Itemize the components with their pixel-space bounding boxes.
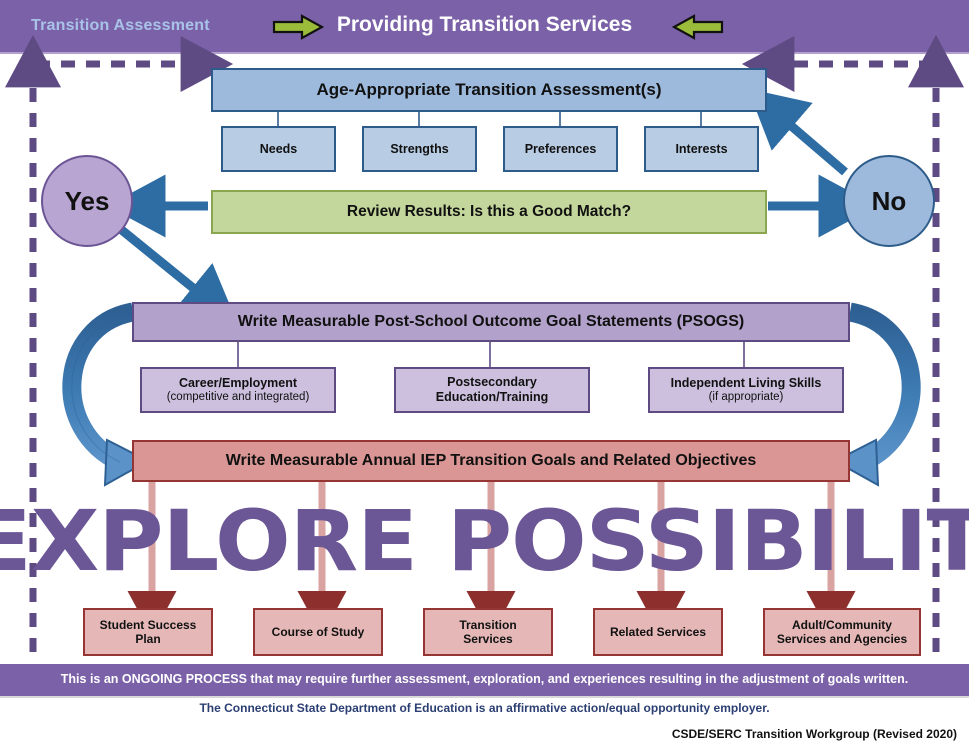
- outcome-label: Adult/Community Services and Agencies: [771, 618, 913, 646]
- assessment-item-preferences[interactable]: Preferences: [503, 126, 618, 172]
- outcome-line2: Services: [463, 632, 512, 646]
- arrow-no-to-assessment-icon: [782, 118, 845, 172]
- psogs-item-text: Postsecondary Education/Training: [430, 375, 555, 405]
- assessment-title: Age-Appropriate Transition Assessment(s): [310, 80, 667, 100]
- outcome-related-services[interactable]: Related Services: [593, 608, 723, 656]
- outcome-label: Transition Services: [453, 618, 522, 646]
- psogs-item-independent-living[interactable]: Independent Living Skills (if appropriat…: [648, 367, 844, 413]
- assessment-item-label: Needs: [254, 142, 304, 157]
- outcome-line2: Plan: [135, 632, 160, 646]
- decision-no-circle[interactable]: No: [843, 155, 935, 247]
- psogs-item-postsecondary[interactable]: Postsecondary Education/Training: [394, 367, 590, 413]
- outcome-student-success-plan[interactable]: Student Success Plan: [83, 608, 213, 656]
- psogs-item-line1: Postsecondary: [436, 375, 549, 390]
- outcome-adult-community-services[interactable]: Adult/Community Services and Agencies: [763, 608, 921, 656]
- page-header: Transition Assessment Providing Transiti…: [0, 0, 969, 53]
- ongoing-process-text: This is an ONGOING PROCESS that may requ…: [0, 672, 969, 686]
- iep-goals-box[interactable]: Write Measurable Annual IEP Transition G…: [132, 440, 850, 482]
- assessment-stems: [278, 110, 701, 126]
- psogs-item-line1: Independent Living Skills: [671, 376, 822, 391]
- outcome-line1: Transition: [459, 618, 516, 632]
- psogs-item-text: Career/Employment (competitive and integ…: [161, 376, 316, 404]
- assessment-item-needs[interactable]: Needs: [221, 126, 336, 172]
- assessment-item-label: Preferences: [519, 142, 603, 157]
- credit-line: CSDE/SERC Transition Workgroup (Revised …: [672, 727, 957, 741]
- psogs-box[interactable]: Write Measurable Post-School Outcome Goa…: [132, 302, 850, 342]
- psogs-item-line2: Education/Training: [436, 390, 549, 405]
- green-arrow-left-icon: [672, 14, 724, 40]
- outcome-label: Student Success Plan: [94, 618, 203, 646]
- psogs-item-line2: (if appropriate): [671, 391, 822, 405]
- psogs-item-line2: (competitive and integrated): [167, 391, 310, 405]
- psogs-title: Write Measurable Post-School Outcome Goa…: [232, 313, 750, 332]
- iep-goals-title: Write Measurable Annual IEP Transition G…: [220, 452, 763, 471]
- outcome-label: Related Services: [604, 625, 712, 639]
- outcome-line1: Student Success: [100, 618, 197, 632]
- decision-yes-circle[interactable]: Yes: [41, 155, 133, 247]
- review-results-question: Review Results: Is this a Good Match?: [341, 203, 637, 221]
- assessment-box[interactable]: Age-Appropriate Transition Assessment(s): [211, 68, 767, 112]
- outcome-line2: Services and Agencies: [777, 632, 907, 646]
- psogs-item-text: Independent Living Skills (if appropriat…: [665, 376, 828, 404]
- diagram-canvas: Transition Assessment Providing Transiti…: [0, 0, 969, 751]
- assessment-item-label: Strengths: [384, 142, 454, 157]
- outcome-course-of-study[interactable]: Course of Study: [253, 608, 383, 656]
- eeo-statement: The Connecticut State Department of Educ…: [0, 701, 969, 715]
- yes-label: Yes: [65, 186, 110, 217]
- ongoing-process-banner: This is an ONGOING PROCESS that may requ…: [0, 664, 969, 697]
- assessment-item-label: Interests: [669, 142, 733, 157]
- outcome-label: Course of Study: [266, 625, 371, 639]
- psogs-item-line1: Career/Employment: [167, 376, 310, 391]
- page-title: Providing Transition Services: [0, 13, 969, 37]
- footer-divider: [0, 696, 969, 698]
- arrow-yes-to-psogs-icon: [118, 227, 203, 296]
- psogs-stems: [238, 340, 744, 367]
- outcome-line1: Adult/Community: [792, 618, 892, 632]
- outcome-transition-services[interactable]: Transition Services: [423, 608, 553, 656]
- psogs-item-career-employment[interactable]: Career/Employment (competitive and integ…: [140, 367, 336, 413]
- header-divider: [0, 52, 969, 54]
- no-label: No: [872, 186, 907, 217]
- assessment-item-interests[interactable]: Interests: [644, 126, 759, 172]
- explore-possibilities-wordmark: EXPLORE POSSIBILITIES: [0, 492, 969, 590]
- review-results-box[interactable]: Review Results: Is this a Good Match?: [211, 190, 767, 234]
- assessment-item-strengths[interactable]: Strengths: [362, 126, 477, 172]
